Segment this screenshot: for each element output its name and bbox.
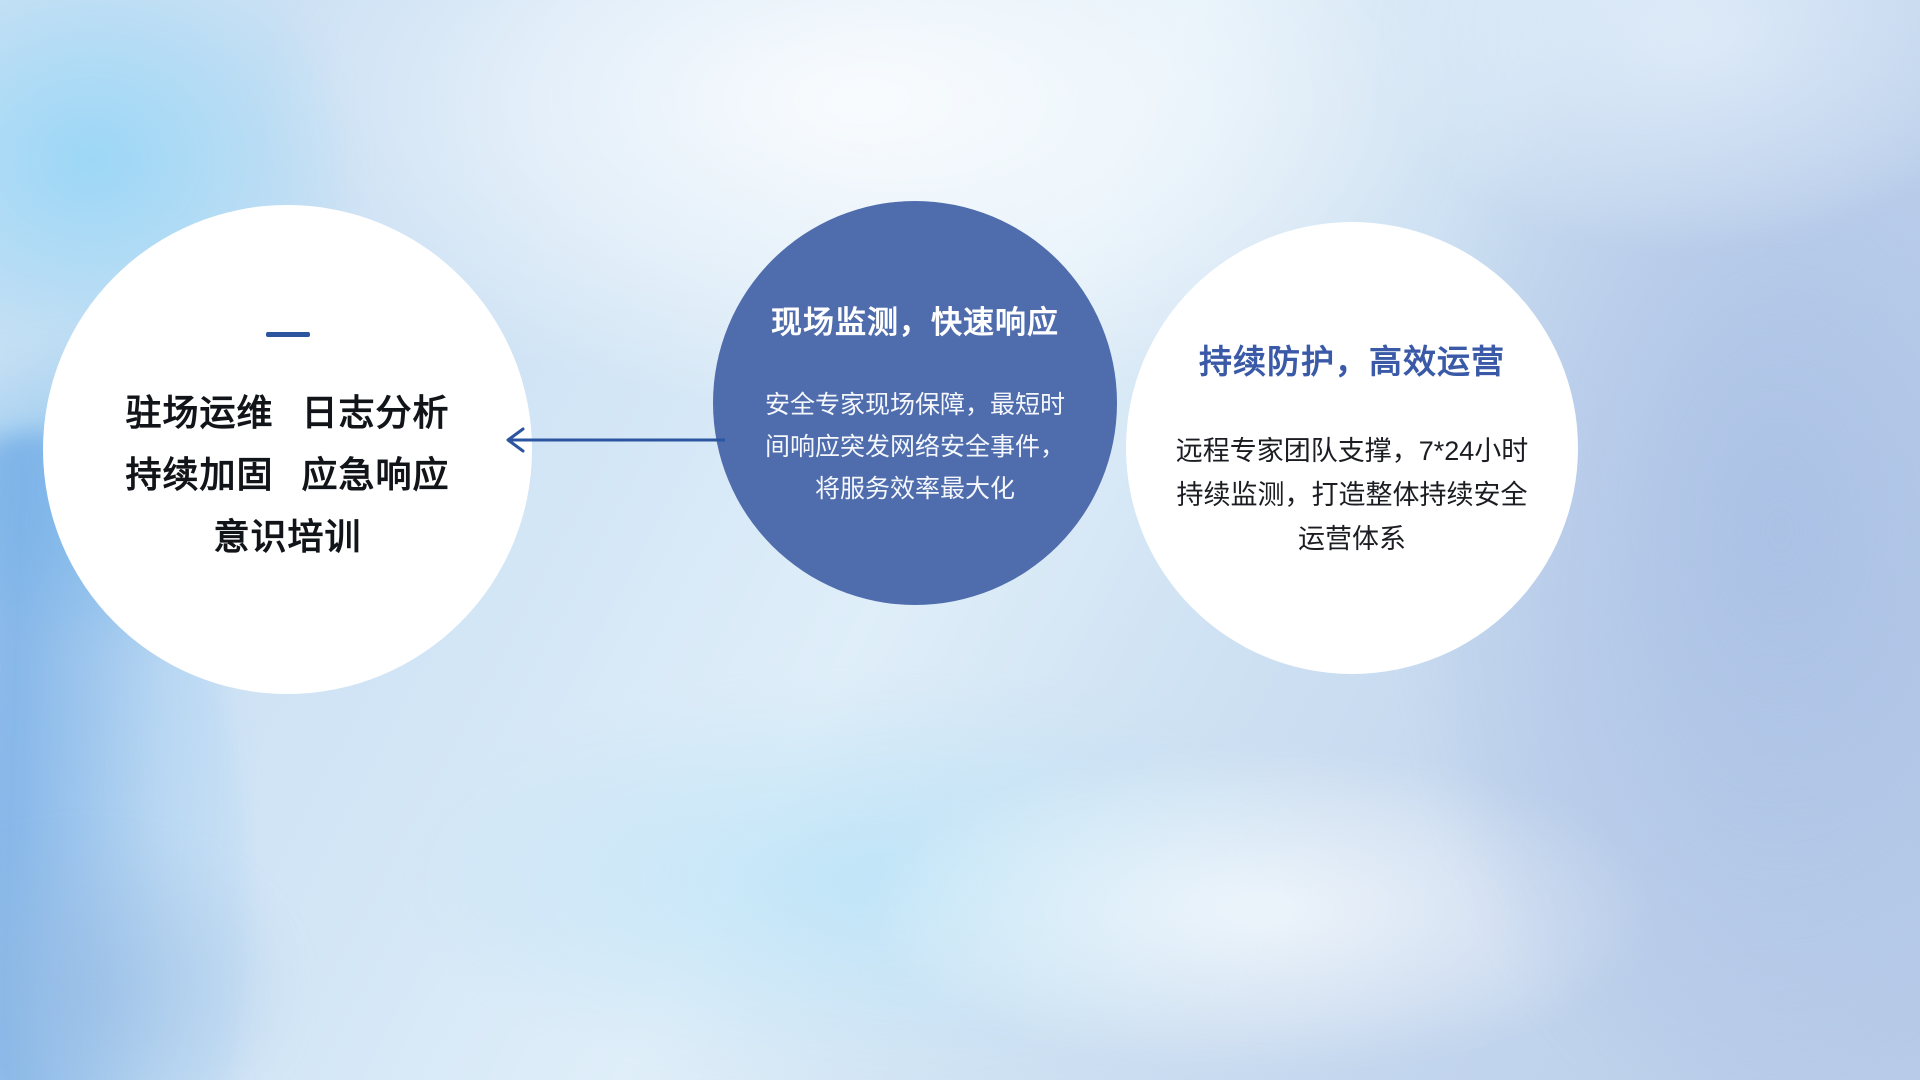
capabilities-row: 持续加固应急响应 [125,444,449,506]
divider-dash-icon [266,332,310,337]
background-glow-top-right [1380,0,1920,240]
continuous-operation-heading: 持续防护，高效运营 [1199,335,1505,383]
capabilities-row: 驻场运维日志分析 [125,382,449,444]
onsite-monitoring-heading: 现场监测，快速响应 [771,297,1059,342]
background-glow-corner-bottom-left [0,830,300,1080]
capability-keyword: 意识培训 [213,516,361,557]
capabilities-row: 意识培训 [125,506,449,568]
background-glow-cyan-bottom [430,700,1330,1060]
onsite-monitoring-circle: 现场监测，快速响应 安全专家现场保障，最短时间响应突发网络安全事件，将服务效率最… [713,201,1117,605]
capability-keyword: 日志分析 [302,392,450,433]
capabilities-circle: 驻场运维日志分析 持续加固应急响应 意识培训 [43,205,532,694]
continuous-operation-circle: 持续防护，高效运营 远程专家团队支撑，7*24小时持续监测，打造整体持续安全运营… [1126,222,1578,674]
continuous-operation-body: 远程专家团队支撑，7*24小时持续监测，打造整体持续安全运营体系 [1164,429,1540,561]
arrow-left-icon [497,424,725,456]
background-glow-white-bottom [880,760,1640,1060]
capability-keyword: 持续加固 [125,454,273,495]
capabilities-keyword-list: 驻场运维日志分析 持续加固应急响应 意识培训 [125,382,449,568]
capability-keyword: 驻场运维 [125,392,273,433]
onsite-monitoring-body: 安全专家现场保障，最短时间响应突发网络安全事件，将服务效率最大化 [759,384,1071,510]
capability-keyword: 应急响应 [302,454,450,495]
slide-canvas: 驻场运维日志分析 持续加固应急响应 意识培训 持续防护，高效运营 远程专家团队支… [0,0,1920,1080]
